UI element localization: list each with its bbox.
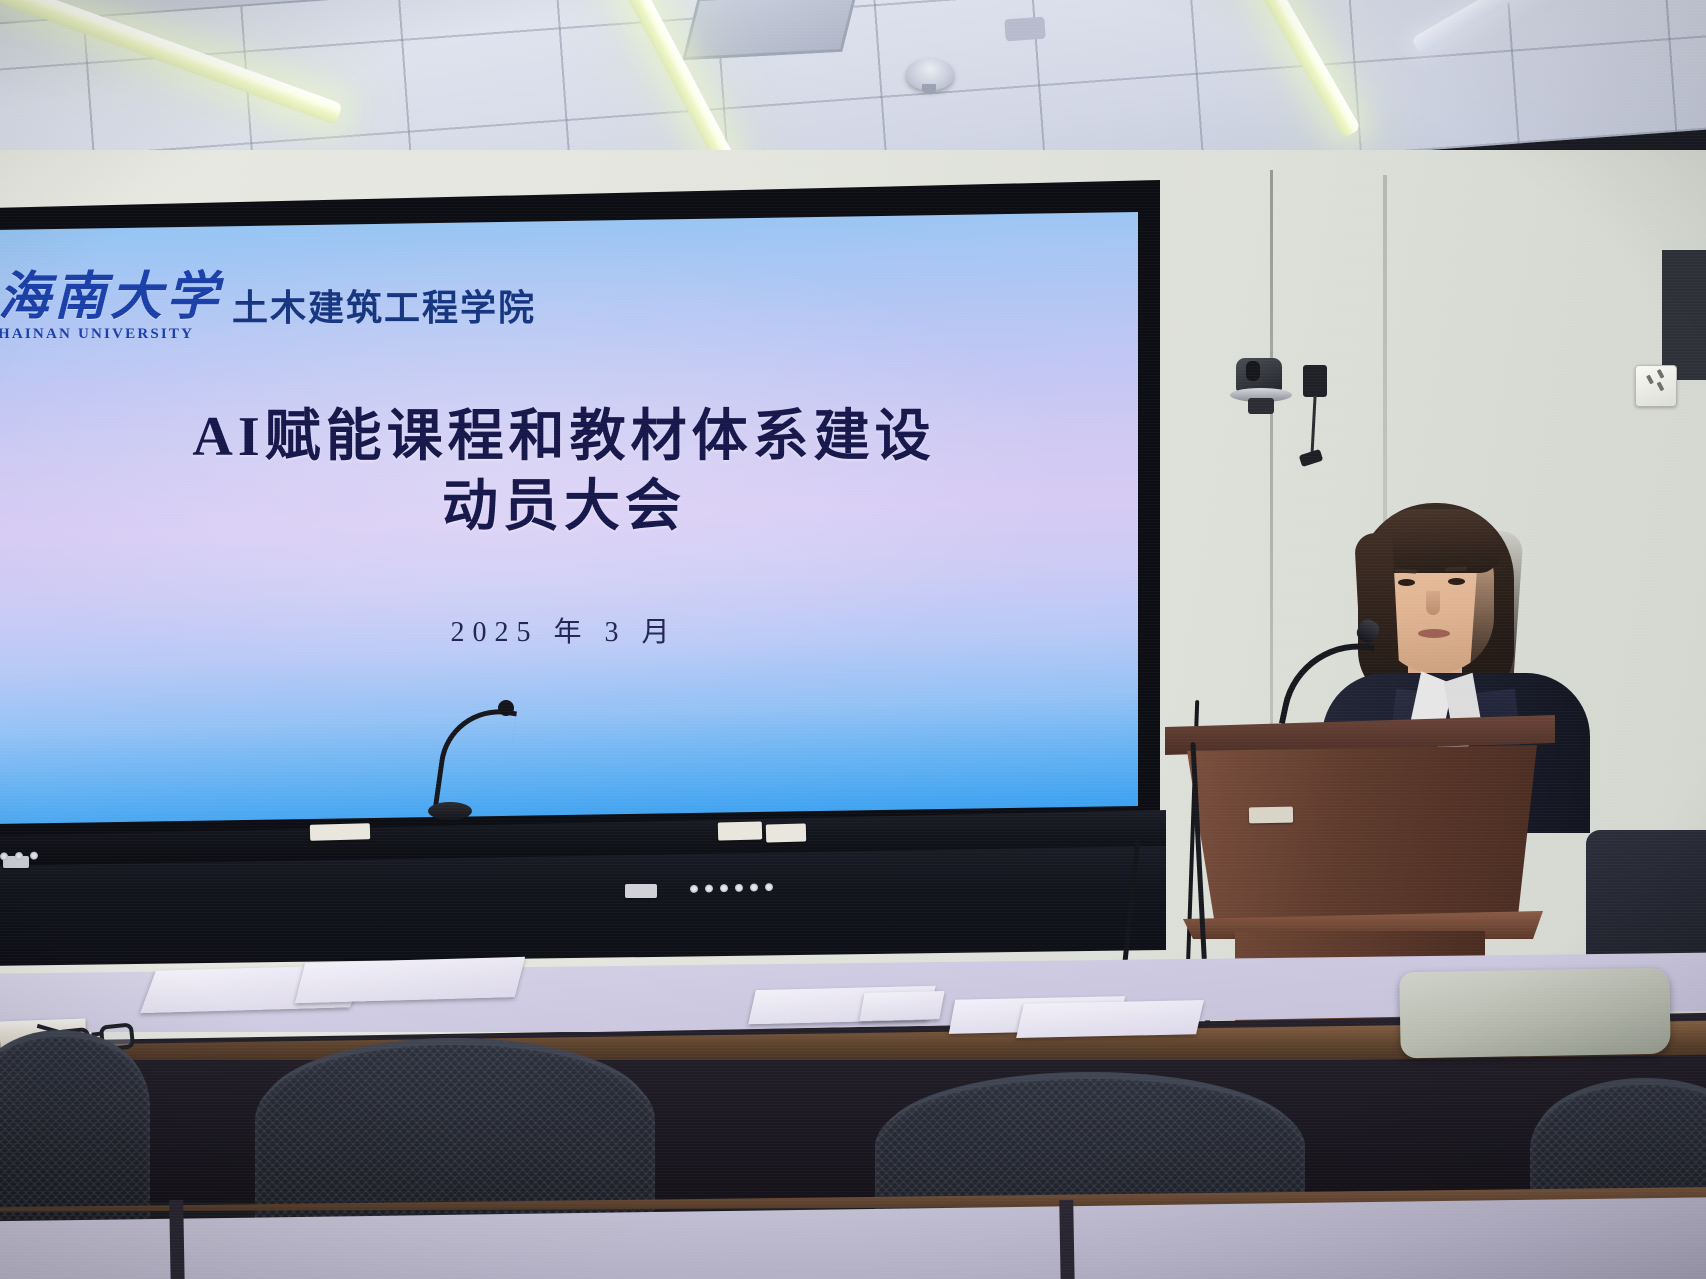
seat-cushion (1399, 968, 1670, 1059)
paper-sheet (859, 991, 944, 1021)
paper-sheet (1016, 1000, 1204, 1038)
department-name: 土木建筑工程学院 (232, 279, 536, 331)
slide-logo: 海南大学 HAINAN UNIVERSITY 土木建筑工程学院 (0, 272, 536, 343)
podium-front-panel (1187, 745, 1537, 925)
equipment-label (718, 821, 762, 840)
camera-lens (1246, 361, 1260, 381)
podium-label (1249, 807, 1293, 824)
equipment-label (766, 823, 806, 842)
chair-rim (884, 1072, 1297, 1143)
light-fixture-cap (1004, 17, 1045, 42)
slide-date: 2025 年 3 月 (0, 610, 1138, 650)
smoke-detector-icon (906, 58, 954, 90)
camera-mount (1248, 398, 1274, 414)
chair-rim (263, 1038, 647, 1116)
university-name-en: HAINAN UNIVERSITY (0, 326, 222, 343)
projection-screen[interactable]: 海南大学 HAINAN UNIVERSITY 土木建筑工程学院 AI赋能课程和教… (0, 212, 1138, 824)
mic-base (428, 802, 472, 820)
ptz-camera-icon (1230, 358, 1294, 414)
av-equipment-strip (0, 846, 1166, 966)
wall-dark-panel (1662, 250, 1706, 380)
eye-left (1398, 579, 1415, 586)
table-seam (1059, 1200, 1075, 1279)
chair-rim (0, 1030, 146, 1101)
gooseneck-microphone-table (440, 706, 520, 826)
paper-sheet (295, 957, 525, 1003)
university-name-cn: 海南大学 (0, 272, 222, 324)
table-seam (169, 1200, 185, 1279)
title-line-2: 动员大会 (0, 472, 1138, 542)
mic-capsule (498, 700, 514, 716)
mic-gooseneck (433, 702, 517, 817)
mouth (1418, 629, 1450, 638)
eye-right (1448, 578, 1465, 585)
nose (1426, 591, 1440, 615)
camera-head (1236, 358, 1282, 392)
conference-room-photo: 海南大学 HAINAN UNIVERSITY 土木建筑工程学院 AI赋能课程和教… (0, 0, 1706, 1279)
equipment-led-indicators (0, 852, 38, 861)
equipment-label (625, 884, 657, 898)
chair-rim (1535, 1078, 1706, 1146)
ceiling-vent (682, 0, 857, 60)
power-outlet-icon (1635, 365, 1677, 407)
equipment-label (310, 823, 370, 841)
page-title: AI赋能课程和教材体系建设 动员大会 (0, 402, 1138, 542)
title-line-1: AI赋能课程和教材体系建设 (0, 402, 1138, 472)
wall-junction-box (1303, 365, 1327, 397)
